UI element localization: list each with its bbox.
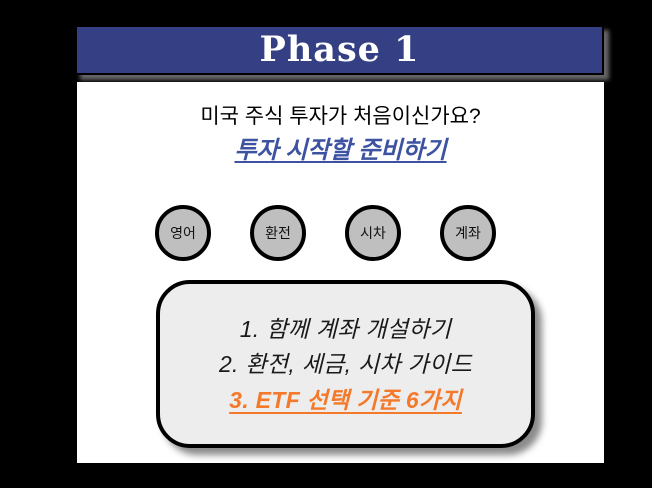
agenda-list-box: 1. 함께 계좌 개설하기 2. 환전, 세금, 시차 가이드 3. ETF 선… xyxy=(156,280,535,448)
keyword-circle-row: 영어 환전 시차 계좌 xyxy=(117,205,567,265)
keyword-circle-label: 시차 xyxy=(360,226,386,240)
list-item: 2. 환전, 세금, 시차 가이드 xyxy=(219,347,472,383)
slide-content-panel: 미국 주식 투자가 처음이신가요? 투자 시작할 준비하기 영어 환전 시차 계… xyxy=(77,82,604,463)
headline-group: 미국 주식 투자가 처음이신가요? 투자 시작할 준비하기 xyxy=(77,104,604,166)
keyword-circle-label: 계좌 xyxy=(455,226,481,240)
list-item: 1. 함께 계좌 개설하기 xyxy=(240,312,452,348)
keyword-circle-english: 영어 xyxy=(155,205,211,261)
keyword-circle-label: 영어 xyxy=(170,226,196,240)
keyword-circle-exchange: 환전 xyxy=(250,205,306,261)
headline-subtitle: 투자 시작할 준비하기 xyxy=(77,135,604,166)
page-title: Phase 1 xyxy=(260,32,420,67)
headline-question: 미국 주식 투자가 처음이신가요? xyxy=(77,104,604,130)
keyword-circle-account: 계좌 xyxy=(440,205,496,261)
keyword-circle-label: 환전 xyxy=(265,226,291,240)
keyword-circle-timezone: 시차 xyxy=(345,205,401,261)
list-item-highlighted: 3. ETF 선택 기준 6가지 xyxy=(229,383,462,419)
presentation-slide: Phase 1 미국 주식 투자가 처음이신가요? 투자 시작할 준비하기 영어… xyxy=(0,0,652,488)
slide-title-banner: Phase 1 xyxy=(75,25,604,75)
